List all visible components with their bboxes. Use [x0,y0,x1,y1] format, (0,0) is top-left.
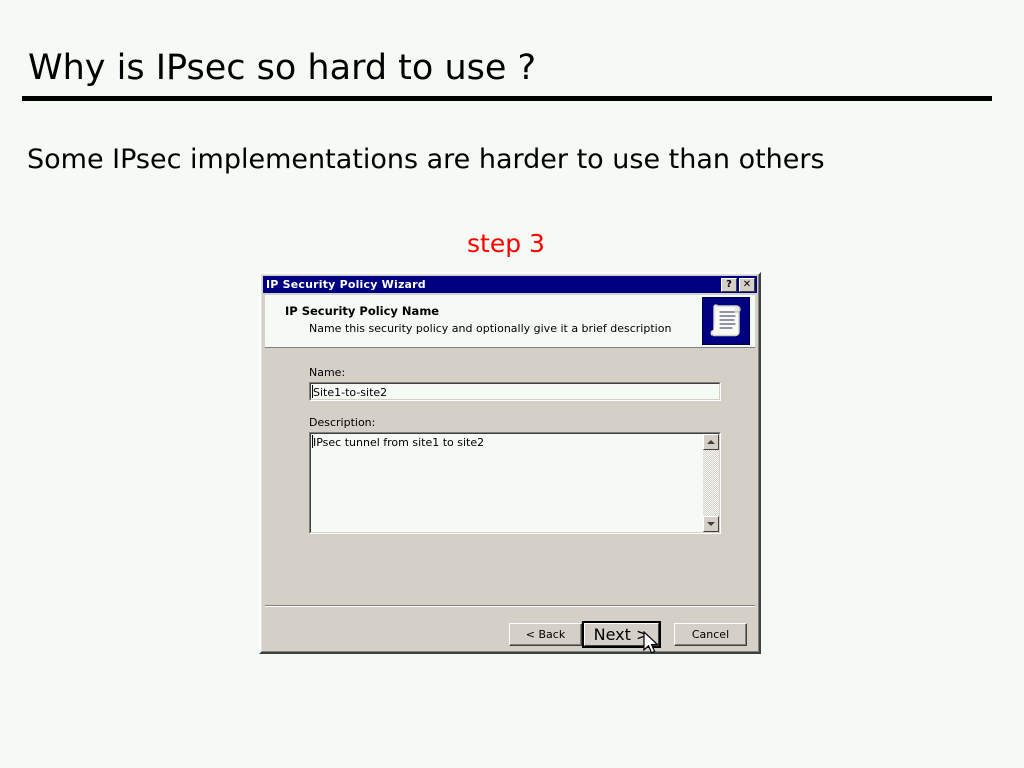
help-button[interactable]: ? [721,278,737,292]
description-field-label: Description: [309,416,375,429]
name-input[interactable]: Site1-to-site2 [309,382,721,401]
wizard-header: IP Security Policy Name Name this securi… [265,295,755,348]
button-bar-separator [265,605,755,607]
wizard-body: Name: Site1-to-site2 Description: IPsec … [265,349,755,648]
step-label: step 3 [467,229,545,258]
ip-security-policy-wizard-dialog: IP Security Policy Wizard ? ✕ IP Securit… [259,272,761,654]
back-button[interactable]: < Back [509,623,582,646]
dialog-button-bar: < Back Next > Cancel [509,621,747,648]
wizard-header-subtitle: Name this security policy and optionally… [309,322,671,335]
slide-subtitle: Some IPsec implementations are harder to… [27,144,825,175]
arrow-down-glyph [707,522,715,526]
name-input-caret [312,385,313,398]
description-scrollbar[interactable] [703,434,719,532]
policy-scroll-icon [702,297,750,345]
description-caret [312,435,313,448]
name-input-value: Site1-to-site2 [313,386,387,399]
next-button-label: Next > [584,623,659,646]
scroll-up-icon[interactable] [703,434,719,450]
arrow-up-glyph [707,440,715,444]
page-title: Why is IPsec so hard to use ? [28,48,536,88]
close-icon[interactable]: ✕ [739,278,755,292]
description-textarea[interactable]: IPsec tunnel from site1 to site2 [309,432,721,534]
scroll-down-icon[interactable] [703,516,719,532]
name-field-label: Name: [309,366,345,379]
cancel-button[interactable]: Cancel [674,623,747,646]
dialog-titlebar[interactable]: IP Security Policy Wizard ? ✕ [263,276,757,293]
dialog-title-text: IP Security Policy Wizard [266,278,719,291]
description-value: IPsec tunnel from site1 to site2 [313,436,484,449]
title-divider [22,96,992,101]
next-button[interactable]: Next > [582,621,661,648]
wizard-header-title: IP Security Policy Name [285,304,439,318]
slide: Why is IPsec so hard to use ? Some IPsec… [0,0,1024,768]
